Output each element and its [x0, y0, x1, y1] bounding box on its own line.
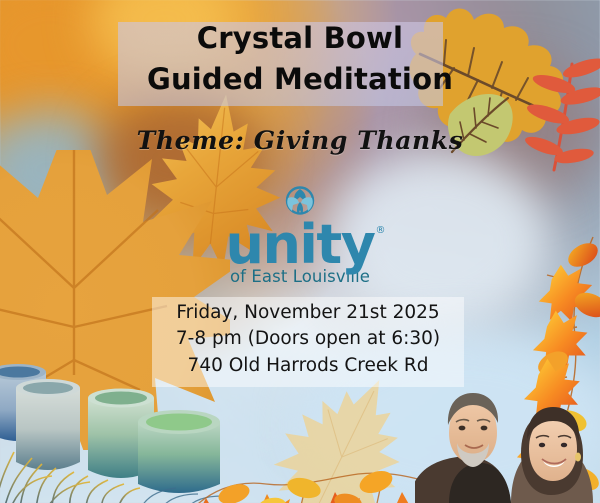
unity-wordmark-text: unity — [226, 213, 375, 276]
registered-mark: ® — [375, 226, 385, 235]
man-figure — [415, 393, 511, 503]
page-title: Crystal Bowl Guided Meditation — [0, 18, 600, 100]
event-address: 740 Old Harrods Creek Rd — [152, 353, 464, 379]
woman-figure — [511, 407, 593, 503]
event-details: Friday, November 21st 2025 7-8 pm (Doors… — [152, 300, 464, 379]
unity-logo: unity ® of East Louisville — [0, 186, 600, 286]
unity-wordmark: unity ® — [226, 220, 375, 270]
flyer-poster: Crystal Bowl Guided Meditation Theme: Gi… — [0, 0, 600, 503]
couple-photo — [415, 383, 600, 503]
title-line-2: Guided Meditation — [0, 59, 600, 100]
event-date: Friday, November 21st 2025 — [152, 300, 464, 326]
event-time: 7-8 pm (Doors open at 6:30) — [152, 326, 464, 352]
theme-text: Theme: Giving Thanks — [0, 126, 600, 155]
title-line-1: Crystal Bowl — [0, 18, 600, 59]
